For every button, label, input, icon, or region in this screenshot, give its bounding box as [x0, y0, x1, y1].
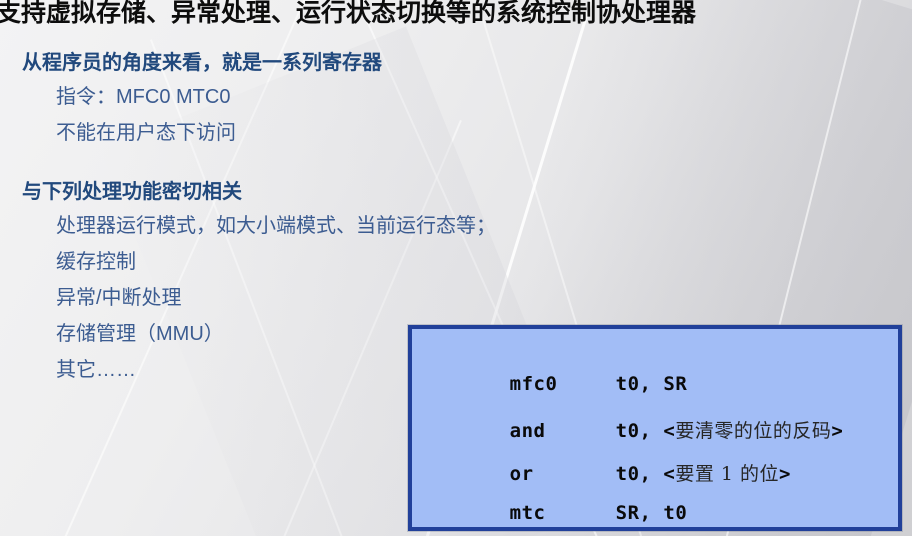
- code-op-1: mfc0: [510, 373, 616, 395]
- outline-heading-2: 与下列处理功能密切相关: [0, 177, 912, 208]
- outline-spacer: [0, 151, 912, 177]
- outline-item-2-3: 异常/中断处理: [0, 280, 912, 316]
- outline-item-1-1: 指令：MFC0 MTC0: [0, 79, 912, 115]
- code-args-tail-3: >: [779, 463, 791, 485]
- code-op-4: mtc: [510, 502, 616, 524]
- code-args-tail-2: >: [831, 420, 843, 442]
- code-line-4: mtcSR, t0: [438, 480, 687, 536]
- outline-item-2-2: 缓存控制: [0, 244, 912, 280]
- code-snippet-box: mfc0t0, SR andt0, <要清零的位的反码> ort0, <要置 1…: [408, 325, 902, 531]
- code-args-1: t0, SR: [616, 373, 688, 395]
- code-args-4: SR, t0: [616, 502, 688, 524]
- code-args-cn-3: 要置 1 的位: [675, 463, 779, 485]
- outline-heading-1: 从程序员的角度来看，就是一系列寄存器: [0, 48, 912, 79]
- outline-item-2-1: 处理器运行模式，如大小端模式、当前运行态等；: [0, 208, 912, 244]
- outline-item-1-2: 不能在用户态下访问: [0, 115, 912, 151]
- page-title: 支持虚拟存储、异常处理、运行状态切换等的系统控制协处理器: [0, 0, 896, 28]
- slide-canvas: 支持虚拟存储、异常处理、运行状态切换等的系统控制协处理器 从程序员的角度来看，就…: [0, 0, 912, 536]
